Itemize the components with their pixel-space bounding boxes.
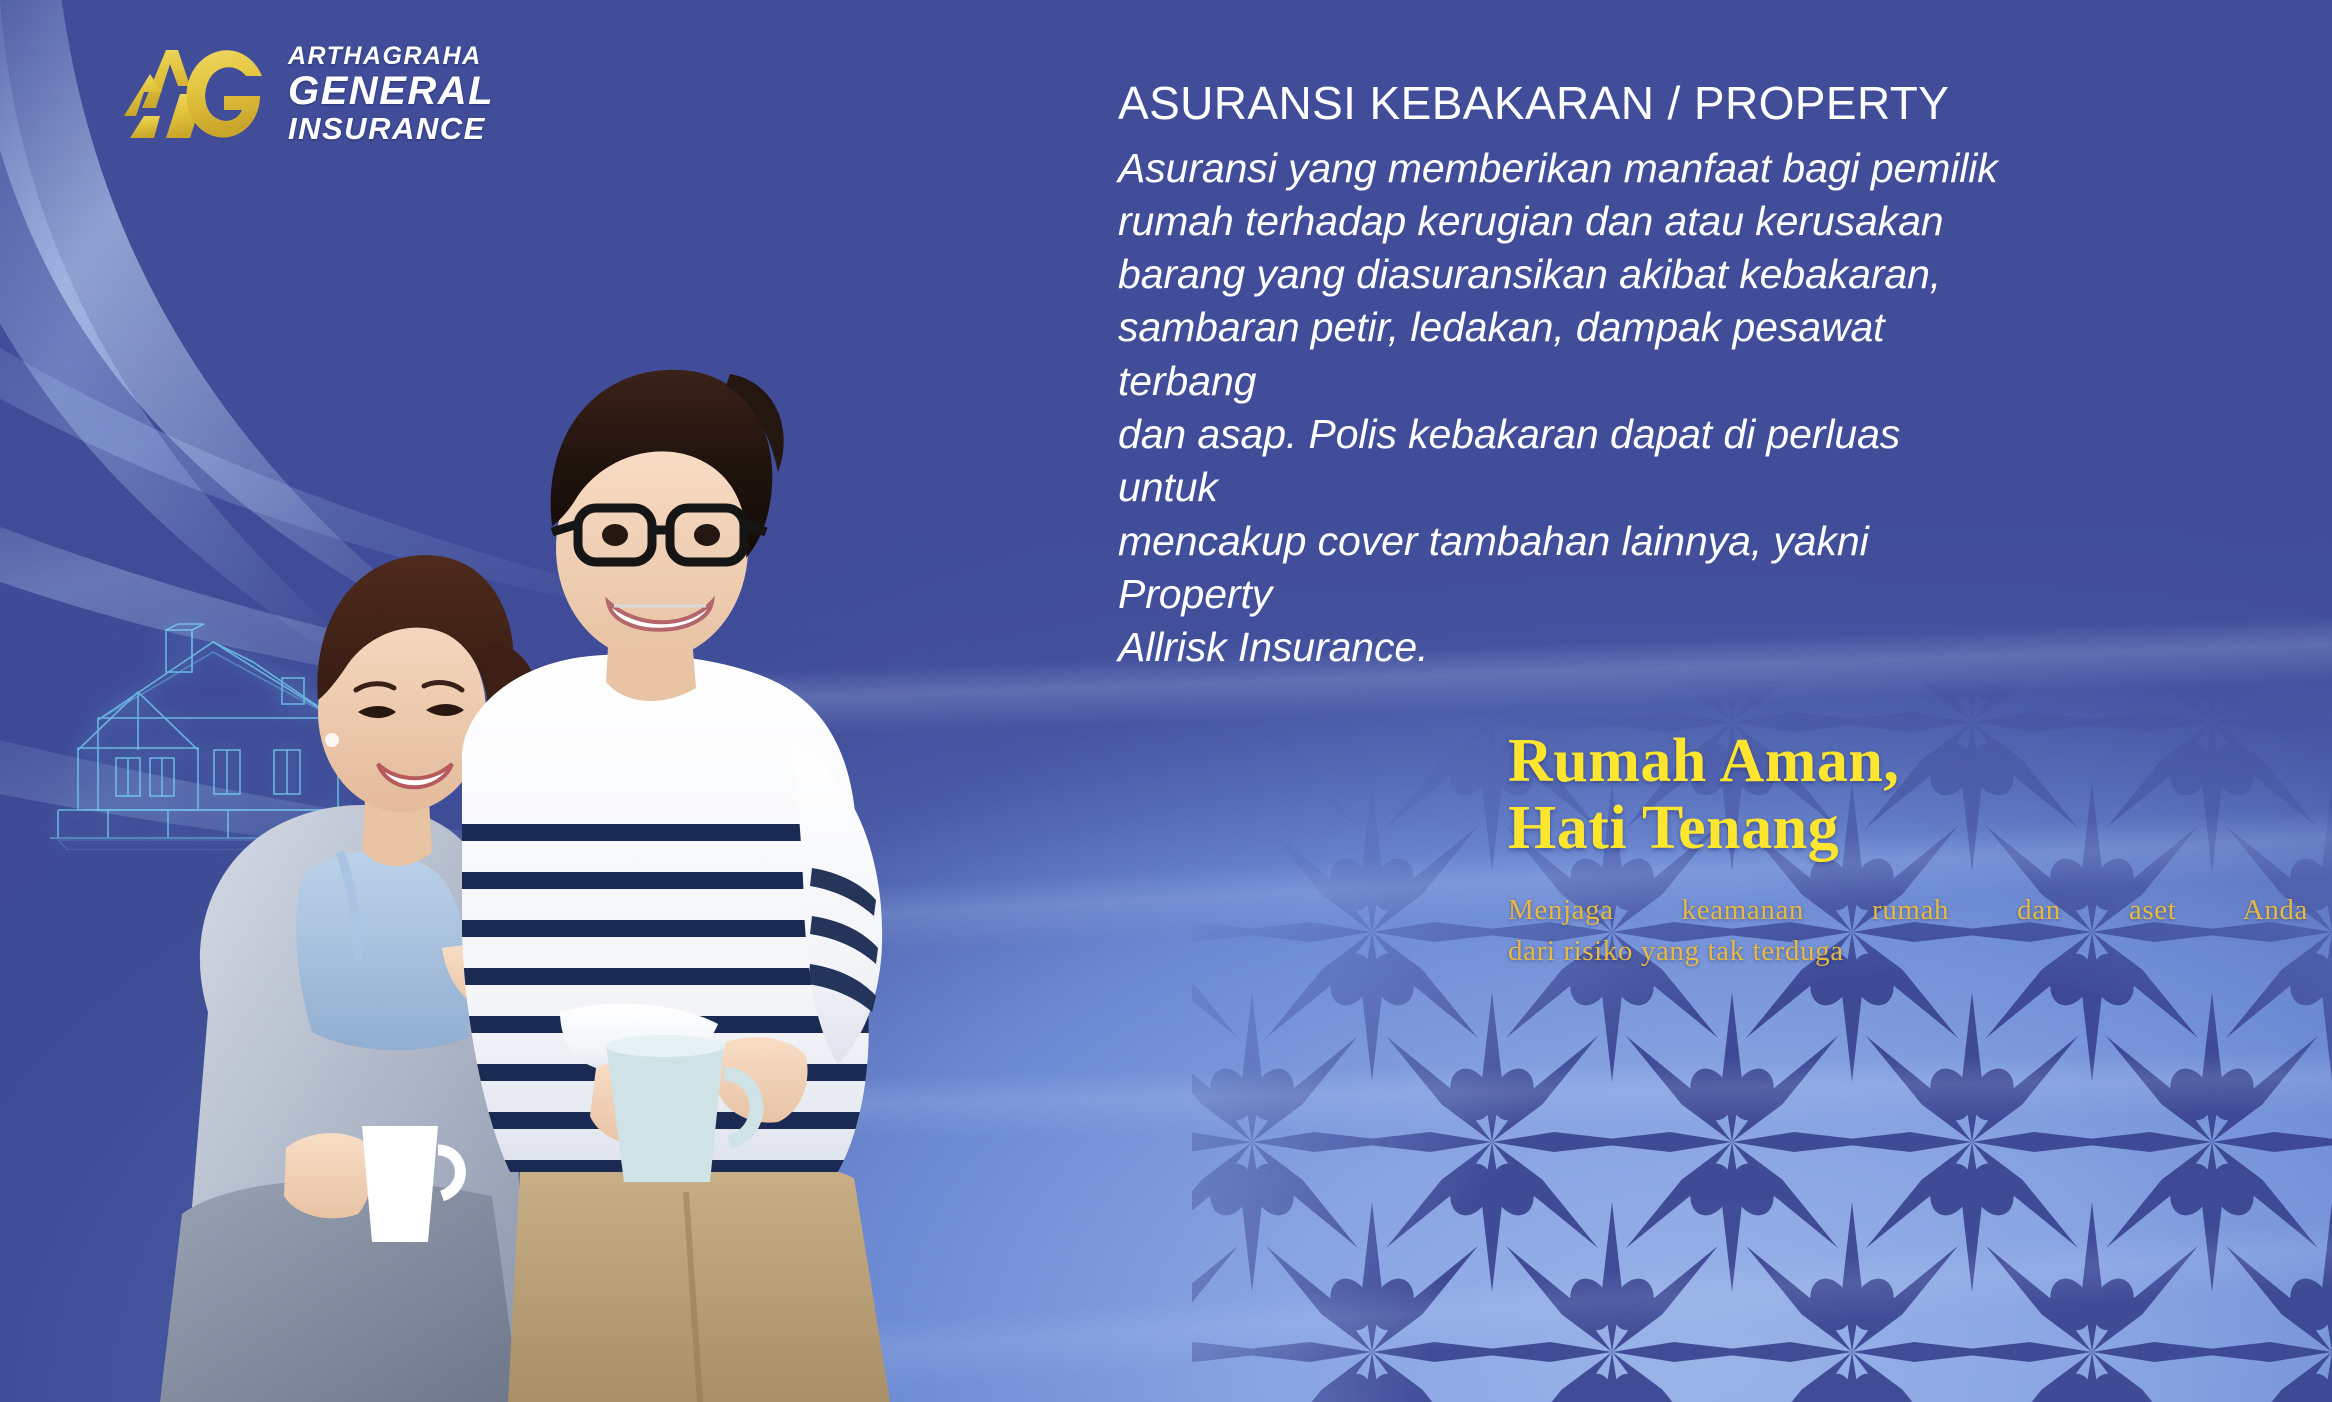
- tagline-sub-line-1: Menjaga keamanan rumah dan aset Anda: [1508, 890, 2308, 931]
- description-line: Allrisk Insurance.: [1118, 621, 1998, 674]
- tagline-headline: Rumah Aman, Hati Tenang: [1508, 728, 2328, 862]
- product-description: Asuransi yang memberikan manfaat bagi pe…: [1118, 142, 1998, 675]
- tagline-line-1: Rumah Aman,: [1508, 728, 2328, 795]
- insurance-promo-banner: ARTHAGRAHA GENERAL INSURANCE ASURANSI KE…: [0, 0, 2332, 1402]
- description-line: Asuransi yang memberikan manfaat bagi pe…: [1118, 142, 1998, 195]
- logo-line-insurance: INSURANCE: [288, 113, 494, 144]
- tagline-subtext: Menjaga keamanan rumah dan aset Anda dar…: [1508, 890, 2308, 972]
- logo-line-arthagraha: ARTHAGRAHA: [288, 44, 494, 69]
- tagline-sub-line-2: dari risiko yang tak terduga: [1508, 931, 2308, 972]
- product-copy-block: ASURANSI KEBAKARAN / PROPERTY Asuransi y…: [1118, 78, 1998, 674]
- tagline-line-2: Hati Tenang: [1508, 795, 2328, 862]
- description-line: dan asap. Polis kebakaran dapat di perlu…: [1118, 408, 1998, 515]
- description-line: mencakup cover tambahan lainnya, yakni P…: [1118, 515, 1998, 622]
- logo-wordmark: ARTHAGRAHA GENERAL INSURANCE: [288, 40, 494, 144]
- company-logo[interactable]: ARTHAGRAHA GENERAL INSURANCE: [120, 40, 494, 144]
- description-line: barang yang diasuransikan akibat kebakar…: [1118, 248, 1998, 301]
- logo-line-general: GENERAL: [288, 71, 494, 111]
- description-line: sambaran petir, ledakan, dampak pesawat …: [1118, 301, 1998, 408]
- tagline-block: Rumah Aman, Hati Tenang Menjaga keamanan…: [1508, 728, 2328, 972]
- ag-monogram-icon: [120, 46, 270, 138]
- product-headline: ASURANSI KEBAKARAN / PROPERTY: [1118, 78, 1998, 130]
- description-line: rumah terhadap kerugian dan atau kerusak…: [1118, 195, 1998, 248]
